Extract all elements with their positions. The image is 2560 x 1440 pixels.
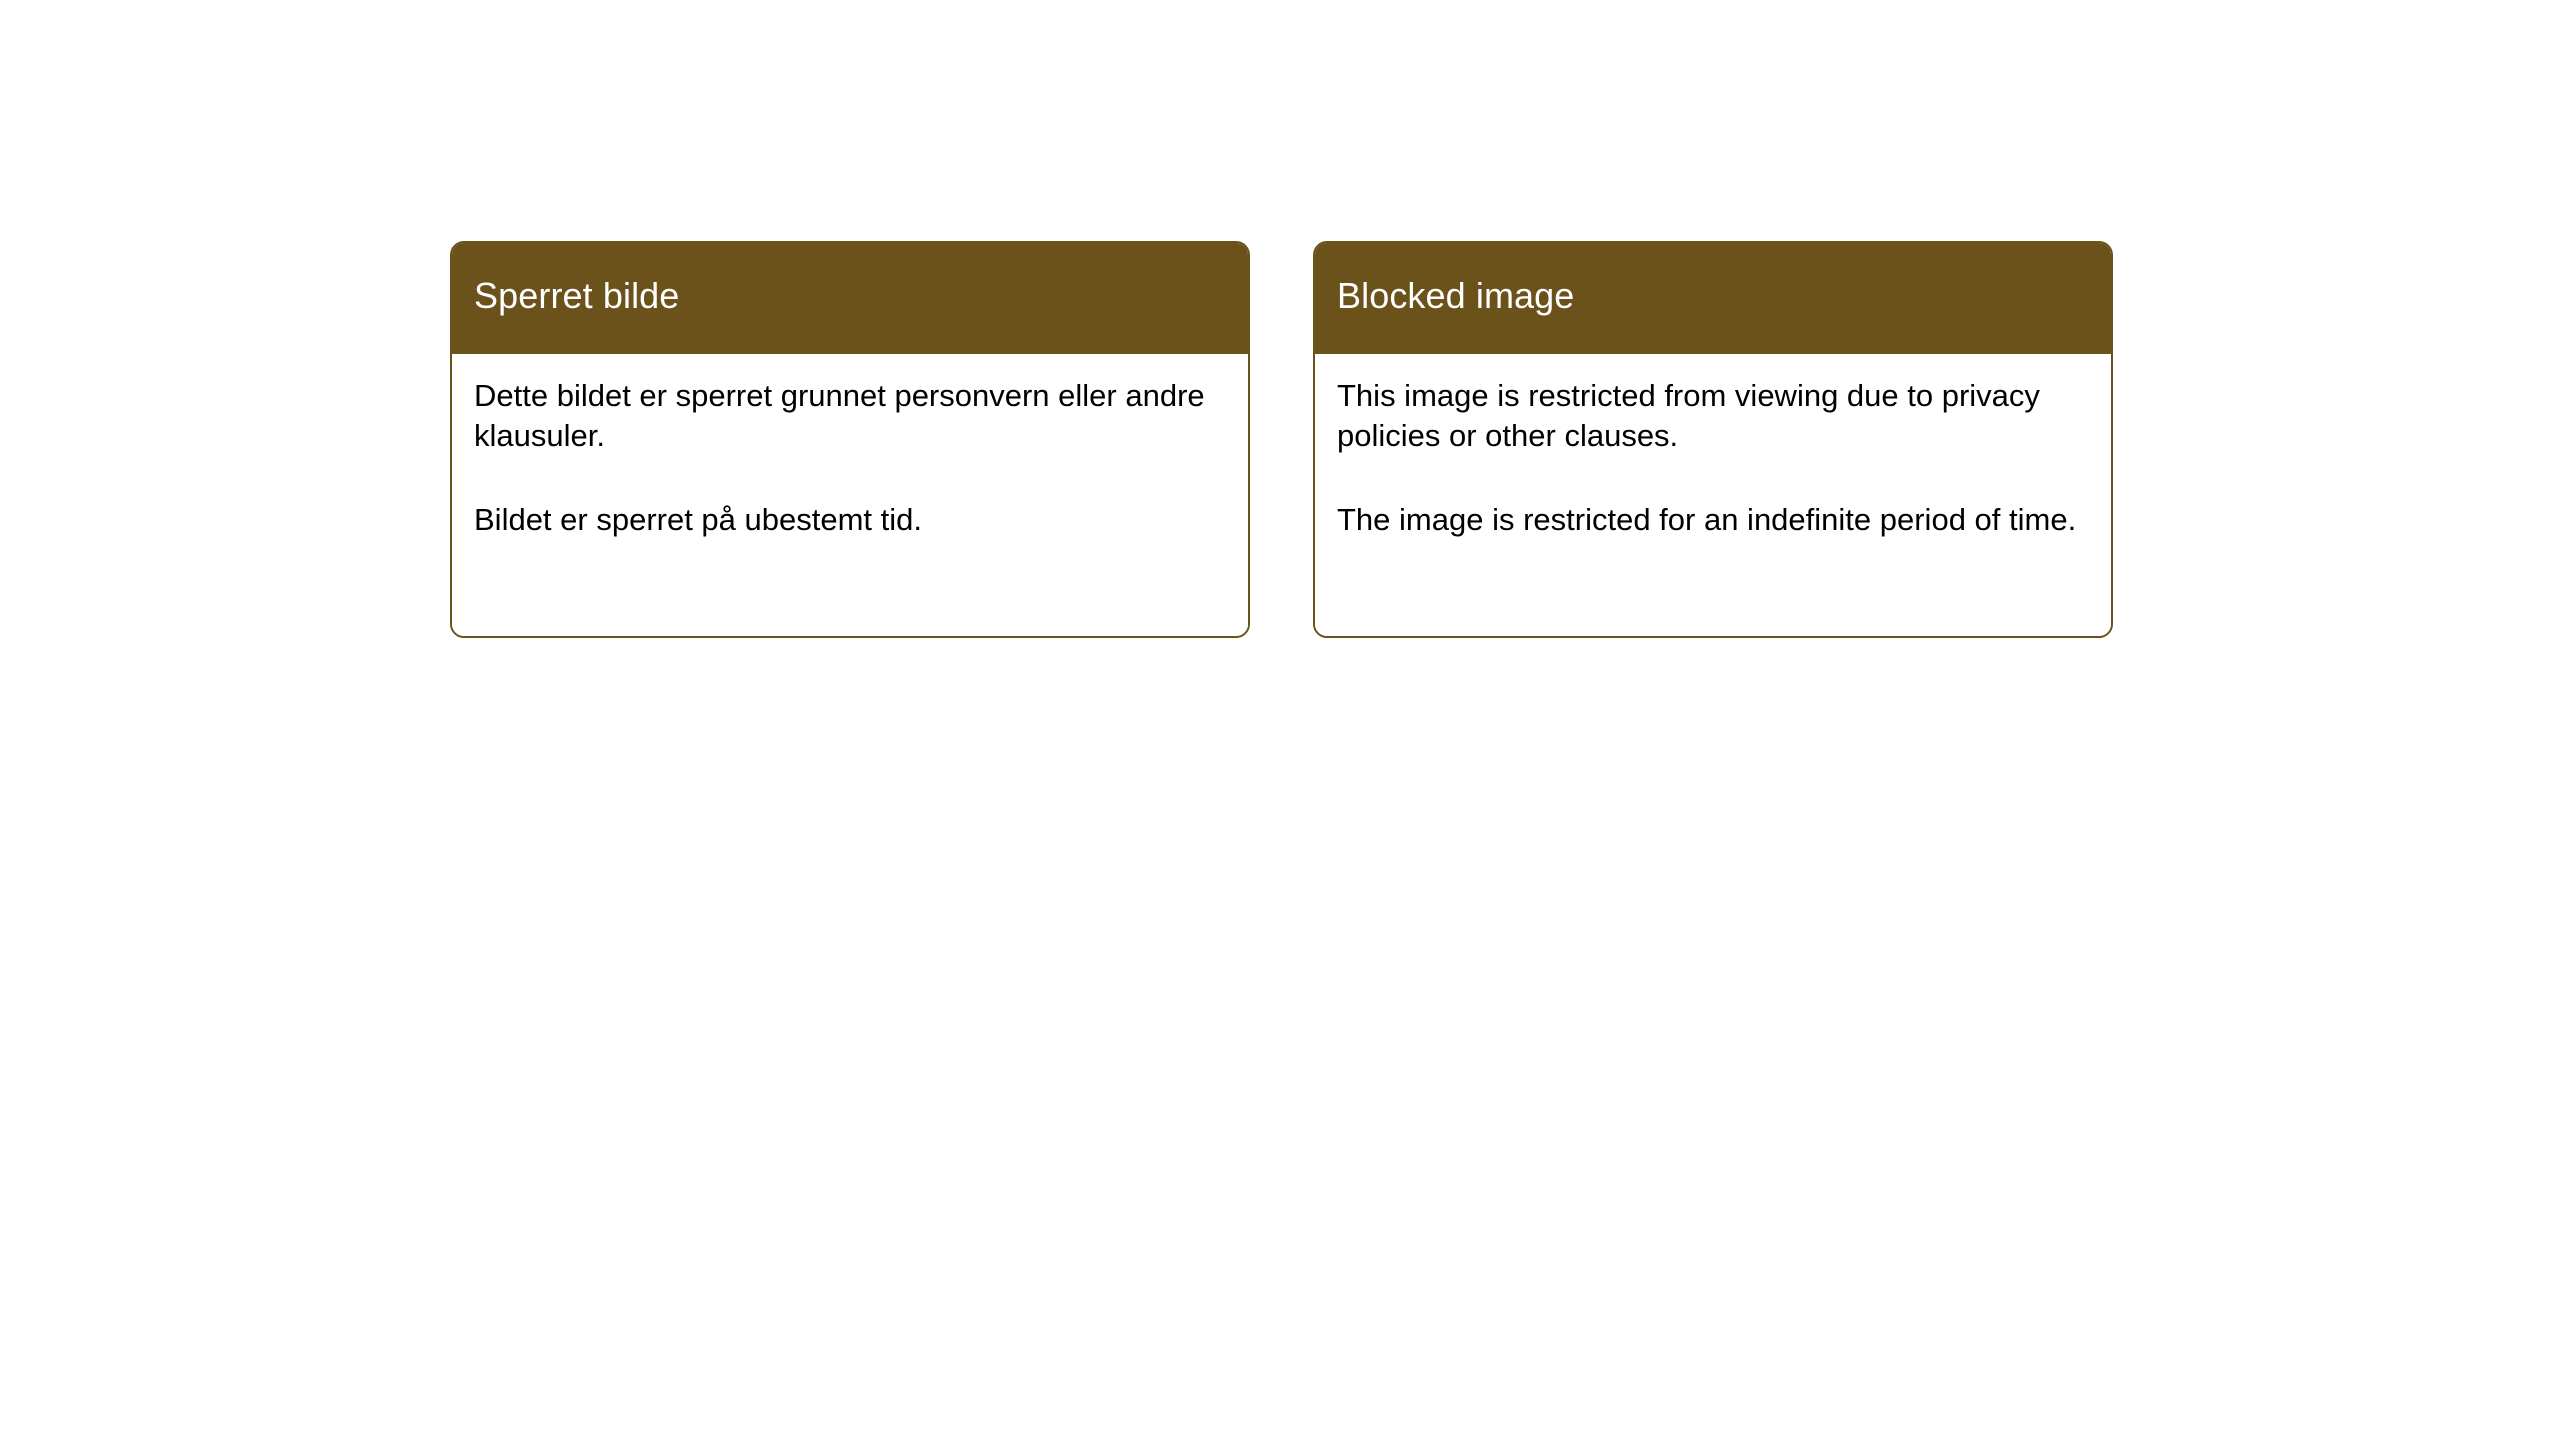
panel-paragraph-reason-norwegian: Dette bildet er sperret grunnet personve… <box>474 376 1219 457</box>
panel-body-english: This image is restricted from viewing du… <box>1315 354 2111 636</box>
panel-paragraph-reason-english: This image is restricted from viewing du… <box>1337 376 2082 457</box>
panel-title-english: Blocked image <box>1337 275 1574 317</box>
panel-title-norwegian: Sperret bilde <box>474 275 679 317</box>
blocked-image-panel-english: Blocked image This image is restricted f… <box>1313 241 2113 638</box>
blocked-image-panel-norwegian: Sperret bilde Dette bildet er sperret gr… <box>450 241 1250 638</box>
panel-header-norwegian: Sperret bilde <box>452 243 1248 354</box>
panel-paragraph-duration-norwegian: Bildet er sperret på ubestemt tid. <box>474 500 1219 540</box>
panel-body-norwegian: Dette bildet er sperret grunnet personve… <box>452 354 1248 636</box>
panel-paragraph-duration-english: The image is restricted for an indefinit… <box>1337 500 2082 540</box>
panel-header-english: Blocked image <box>1315 243 2111 354</box>
blocked-image-notice-area: Sperret bilde Dette bildet er sperret gr… <box>450 241 2113 638</box>
